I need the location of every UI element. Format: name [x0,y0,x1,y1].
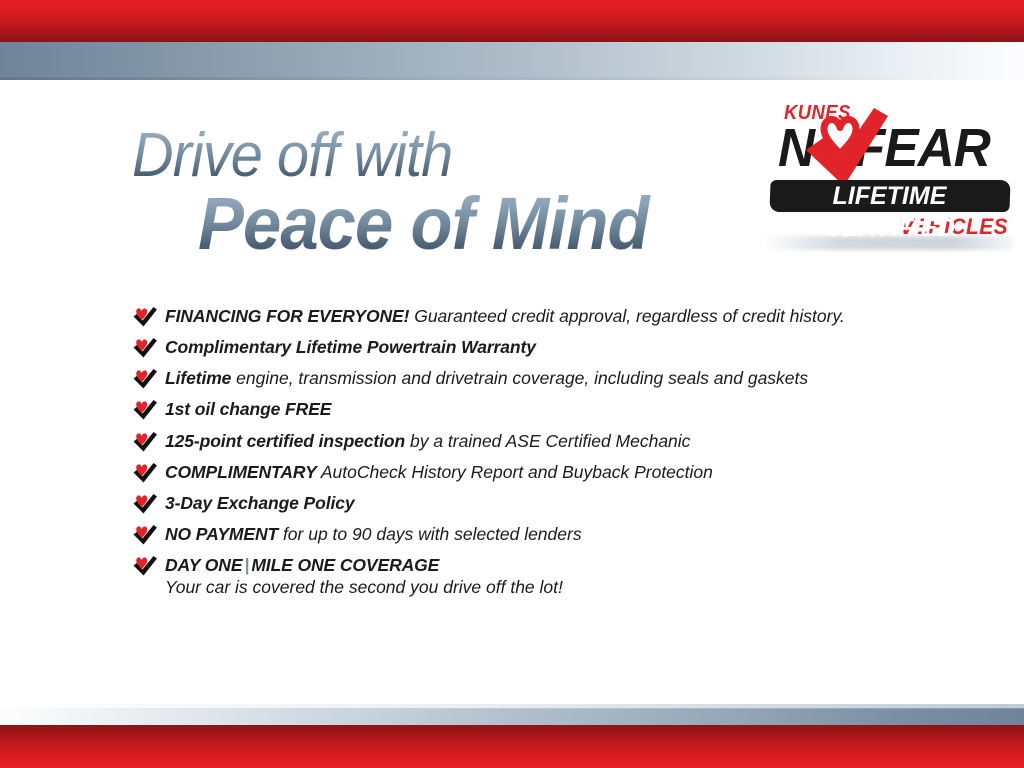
logo-lifetime-certified-bar: LIFETIME CERTIFIED [769,180,1010,212]
heart-check-bullet-icon [132,306,158,327]
list-item: FINANCING FOR EVERYONE! Guaranteed credi… [132,306,932,327]
benefit-lead-mile-one: MILE ONE COVERAGE [251,555,439,575]
promo-banner: Drive off with Peace of Mind KUNES NFEAR… [0,0,1024,768]
list-item: NO PAYMENT for up to 90 days with select… [132,524,932,545]
top-red-stripe [0,0,1024,42]
bottom-gray-stripe [0,708,1024,725]
benefit-lead: Complimentary Lifetime Powertrain Warran… [165,337,536,357]
benefit-lead: 1st oil change FREE [165,399,331,419]
benefit-lead: COMPLIMENTARY [165,462,317,482]
list-item: Lifetime engine, transmission and drivet… [132,368,932,389]
benefit-rest: for up to 90 days with selected lenders [278,524,582,544]
benefit-rest: engine, transmission and drivetrain cove… [231,368,808,388]
logo-bar-text: LIFETIME CERTIFIED [769,180,1009,244]
benefit-lead: NO PAYMENT [165,524,278,544]
benefit-rest: by a trained ASE Certified Mechanic [405,431,690,451]
benefit-lead: 125-point certified inspection [165,431,405,451]
heart-check-bullet-icon [132,399,158,420]
header-section: Drive off with Peace of Mind KUNES NFEAR… [0,80,1024,266]
benefit-subline: Your car is covered the second you drive… [165,577,932,598]
benefit-lead: 3-Day Exchange Policy [165,493,355,513]
logo-wordmark-nofear: NFEAR [778,121,990,175]
kunes-no-fear-logo: KUNES NFEAR LIFETIME CERTIFIED VEHICLES [762,102,1014,238]
list-item: COMPLIMENTARY AutoCheck History Report a… [132,462,932,483]
headline-line-1: Drive off with [132,126,690,186]
logo-letter-n: N [778,118,814,178]
benefit-lead: Lifetime [165,368,231,388]
benefit-rest: AutoCheck History Report and Buyback Pro… [317,462,713,482]
heart-check-bullet-icon [132,368,158,389]
heart-check-bullet-icon [132,524,158,545]
benefit-lead: FINANCING FOR EVERYONE! [165,306,409,326]
bottom-red-stripe [0,725,1024,768]
heart-check-bullet-icon [132,493,158,514]
logo-brand-kunes: KUNES [784,102,851,125]
benefit-separator: | [242,555,251,575]
list-item: 1st oil change FREE [132,399,932,420]
top-gray-stripe [0,42,1024,80]
benefit-rest: Guaranteed credit approval, regardless o… [409,306,844,326]
heart-check-bullet-icon [132,431,158,452]
list-item: 3-Day Exchange Policy [132,493,932,514]
list-item: DAY ONE|MILE ONE COVERAGE Your car is co… [132,555,932,597]
heart-check-bullet-icon [132,337,158,358]
page-title: Drive off with Peace of Mind [132,126,732,259]
list-item: 125-point certified inspection by a trai… [132,431,932,452]
heart-check-bullet-icon [132,555,158,576]
headline-line-2: Peace of Mind [198,188,695,259]
benefits-list: FINANCING FOR EVERYONE! Guaranteed credi… [132,306,932,608]
benefit-lead-day-one: DAY ONE [165,555,242,575]
logo-word-fear: FEAR [854,118,990,178]
heart-check-bullet-icon [132,462,158,483]
list-item: Complimentary Lifetime Powertrain Warran… [132,337,932,358]
